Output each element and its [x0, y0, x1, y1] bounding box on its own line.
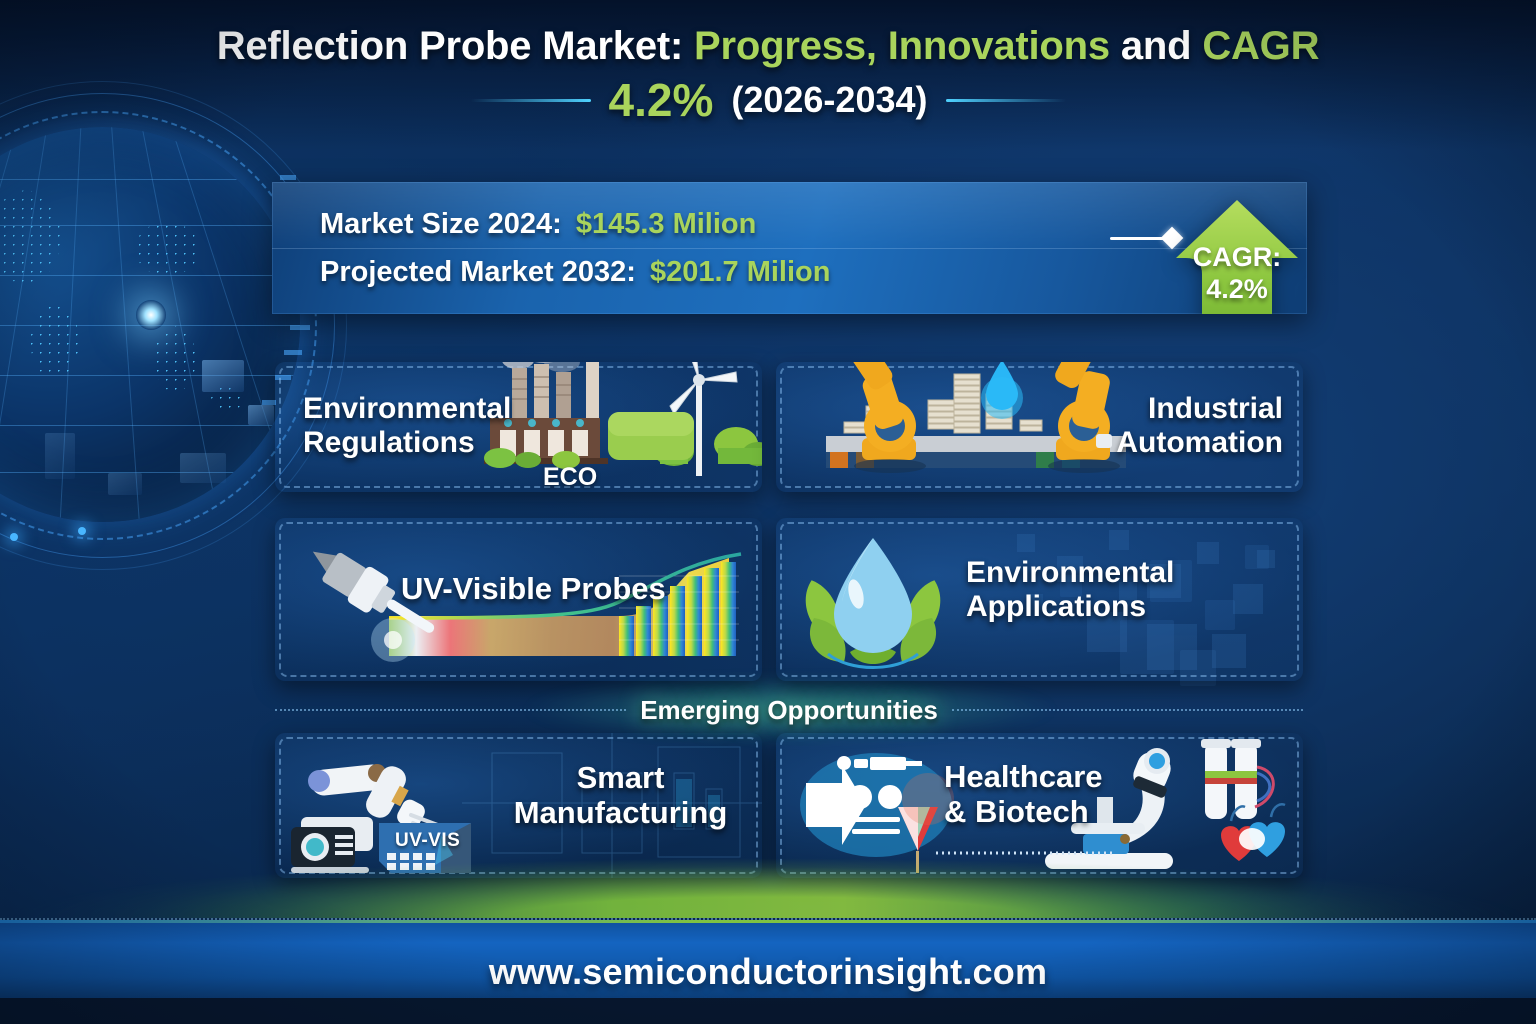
projected-market-value: $201.7 Milion: [650, 256, 831, 289]
globe-highlight-point: [136, 300, 166, 330]
projected-market-label: Projected Market 2032:: [320, 256, 636, 289]
title-part-1: Reflection Probe Market:: [217, 24, 683, 68]
card-label-line1: Healthcare: [944, 759, 1103, 794]
stat-row-projected-market: Projected Market 2032: $201.7 Milion: [320, 248, 1080, 296]
card-label-uv-visible-probes: UV-Visible Probes: [401, 571, 666, 606]
test-tubes-icon: [1201, 739, 1273, 819]
section-divider-emerging-opportunities: Emerging Opportunities: [275, 690, 1303, 730]
card-uv-visible-probes[interactable]: UV-Visible Probes: [275, 518, 762, 681]
card-label-line2: & Biotech: [944, 794, 1103, 829]
card-label-line2: Applications: [966, 590, 1174, 624]
card-environmental-applications[interactable]: Environmental Applications: [776, 518, 1303, 681]
card-label-line2: Automation: [1116, 426, 1283, 460]
stat-rows: Market Size 2024: $145.3 Milion Projecte…: [320, 200, 1080, 296]
page-title: Reflection Probe Market: Progress, Innov…: [0, 24, 1536, 125]
eco-badge-label: ECO: [543, 463, 597, 492]
title-rule-left: [471, 99, 591, 102]
eco-badge: [608, 412, 694, 460]
card-environmental-regulations[interactable]: ECO Environmental Regulations: [275, 362, 762, 492]
divider-line-left: [275, 709, 626, 711]
divider-line-right: [952, 709, 1303, 711]
footer-bottom-strip: [0, 998, 1536, 1024]
title-part-3: and: [1121, 24, 1192, 68]
card-label-smart-manufacturing: Smart Manufacturing: [503, 760, 738, 831]
cagr-badge-value: 4.2%: [1162, 274, 1307, 306]
water-drop-leaves-icon: [798, 532, 948, 672]
market-size-label: Market Size 2024:: [320, 208, 562, 241]
cagr-badge-text: CAGR: 4.2%: [1162, 242, 1307, 306]
card-label-line2: Manufacturing: [503, 795, 738, 830]
cagr-badge-label: CAGR:: [1162, 242, 1307, 274]
divider-label: Emerging Opportunities: [640, 695, 938, 726]
card-label-line1: Smart: [503, 760, 738, 795]
connector-bar: [1110, 237, 1167, 240]
title-period: (2026-2034): [731, 80, 927, 120]
cagr-up-arrow-badge: CAGR: 4.2%: [1162, 196, 1307, 314]
footer-website-url[interactable]: www.semiconductorinsight.com: [489, 951, 1047, 993]
market-size-value: $145.3 Milion: [576, 208, 757, 241]
market-stats-panel: Market Size 2024: $145.3 Milion Projecte…: [272, 182, 1307, 314]
title-line-2: 4.2% (2026-2034): [0, 75, 1536, 126]
liquid-droplet-icon: [981, 362, 1023, 419]
card-label-line2: Regulations: [303, 426, 511, 460]
title-line-1: Reflection Probe Market: Progress, Innov…: [0, 24, 1536, 69]
card-label-line1: Environmental: [966, 556, 1174, 590]
card-industrial-automation[interactable]: Industrial Automation: [776, 362, 1303, 492]
ground-gradient-band: [0, 854, 1536, 918]
card-label-environmental-regulations: Environmental Regulations: [303, 392, 511, 460]
title-cagr-value: 4.2%: [609, 75, 714, 126]
infographic-canvas: Reflection Probe Market: Progress, Innov…: [0, 0, 1536, 1024]
title-part-4: CAGR: [1202, 24, 1319, 68]
stat-row-market-size: Market Size 2024: $145.3 Milion: [320, 200, 1080, 248]
card-label-healthcare-biotech: Healthcare & Biotech: [944, 759, 1103, 830]
title-part-2: Progress, Innovations: [694, 24, 1110, 68]
title-rule-right: [946, 99, 1066, 102]
card-label-line1: Environmental: [303, 392, 511, 426]
card-label-line1: Industrial: [1116, 392, 1283, 426]
card-label-environmental-applications: Environmental Applications: [966, 556, 1174, 624]
water-drop-icon: [834, 538, 912, 653]
uv-vis-panel-label: UV-VIS: [395, 830, 460, 852]
card-label-industrial-automation: Industrial Automation: [1116, 392, 1283, 460]
factory-eco-icon: [470, 362, 762, 492]
